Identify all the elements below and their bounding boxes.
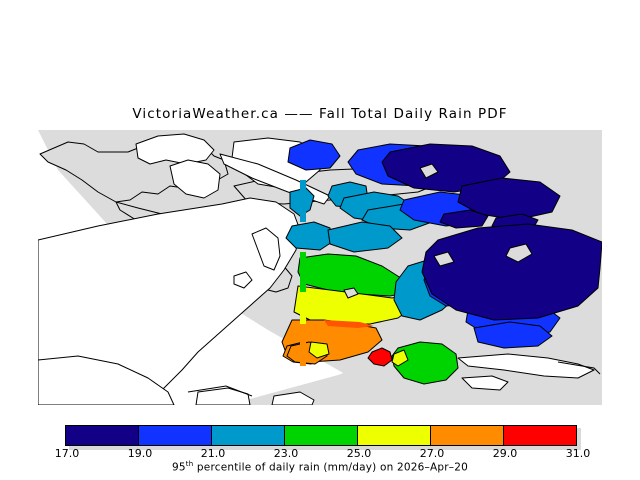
rainfall-map[interactable] bbox=[38, 130, 602, 405]
colorbar-segment-23-25[interactable] bbox=[284, 426, 357, 445]
colorbar-segment-25-27[interactable] bbox=[357, 426, 430, 445]
region-lopez-orcas-islands[interactable] bbox=[422, 224, 602, 320]
colorbar-segment-17-19[interactable] bbox=[66, 426, 138, 445]
colorbar-segment-21-23[interactable] bbox=[211, 426, 284, 445]
colorbar-tick-5: 27.0 bbox=[420, 447, 445, 460]
region-edge-green-clip[interactable] bbox=[300, 252, 306, 292]
colorbar-tick-4: 25.0 bbox=[347, 447, 372, 460]
map-canvas[interactable] bbox=[38, 130, 602, 405]
colorbar-segment-19-21[interactable] bbox=[138, 426, 211, 445]
region-edge-yellow-clip[interactable] bbox=[300, 292, 306, 324]
colorbar-segment-27-29[interactable] bbox=[430, 426, 503, 445]
colorbar-tick-6: 29.0 bbox=[493, 447, 518, 460]
caption-percentile-number: 95 bbox=[172, 462, 186, 474]
region-gulf-blue-strip-c[interactable] bbox=[474, 322, 552, 348]
region-edge-orange-clip[interactable] bbox=[300, 324, 306, 366]
colorbar-tick-3: 23.0 bbox=[274, 447, 299, 460]
colorbar-tick-0: 17.0 bbox=[55, 447, 80, 460]
colorbar-segment-29-31[interactable] bbox=[503, 426, 576, 445]
screenshot-root: VictoriaWeather.ca —— Fall Total Daily R… bbox=[0, 0, 640, 480]
colorbar-caption: 95th percentile of daily rain (mm/day) o… bbox=[0, 460, 640, 474]
colorbar[interactable] bbox=[65, 425, 577, 446]
colorbar-tick-labels: 17.0 19.0 21.0 23.0 25.0 27.0 29.0 31.0 bbox=[0, 447, 640, 461]
page-title: VictoriaWeather.ca —— Fall Total Daily R… bbox=[0, 106, 640, 122]
caption-rest: percentile of daily rain (mm/day) on 202… bbox=[193, 462, 468, 474]
colorbar-tick-1: 19.0 bbox=[128, 447, 153, 460]
region-edge-cyan-clip[interactable] bbox=[300, 180, 306, 222]
colorbar-tick-2: 21.0 bbox=[201, 447, 226, 460]
colorbar-tick-7: 31.0 bbox=[566, 447, 591, 460]
